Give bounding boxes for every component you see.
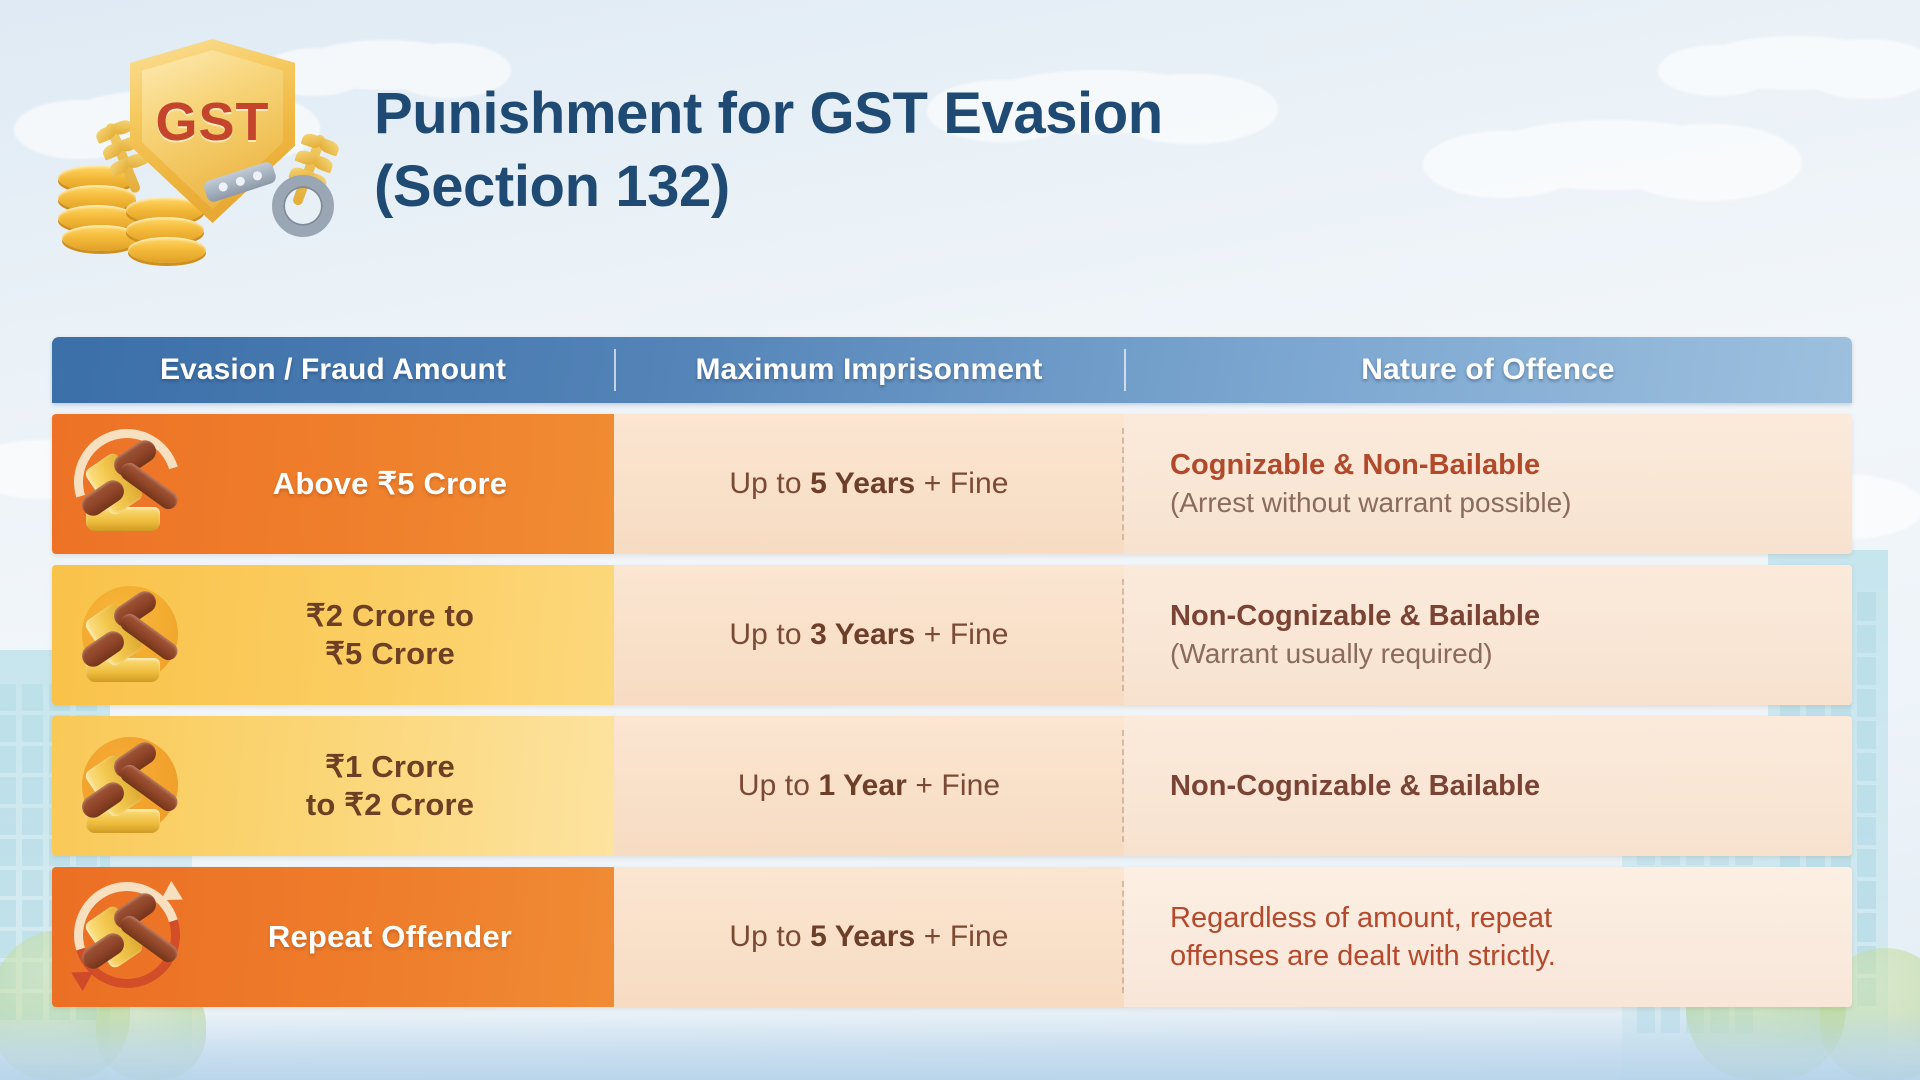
imprisonment-cell: Up to 3 Years + Fine <box>614 565 1124 705</box>
title-line-1: Punishment for GST Evasion <box>374 81 1163 146</box>
table-header-row: Evasion / Fraud Amount Maximum Imprisonm… <box>52 337 1852 403</box>
ground-band <box>0 1010 1920 1080</box>
table-row[interactable]: Repeat Offender Up to 5 Years + Fine Reg… <box>52 867 1852 1007</box>
nature-main: Non-Cognizable & Bailable <box>1170 598 1822 635</box>
table-row[interactable]: Above ₹5 Crore Up to 5 Years + Fine Cogn… <box>52 414 1852 554</box>
imprisonment-prefix: Up to <box>738 769 819 802</box>
nature-sub: (Warrant usually required) <box>1170 636 1822 672</box>
amount-label: ₹1 Crore to ₹2 Crore <box>192 748 588 824</box>
nature-plain-line-1: Regardless of amount, repeat <box>1170 902 1552 934</box>
hero-header: GST Punishment for GST Evasion (Section … <box>0 0 1920 300</box>
nature-cell: Regardless of amount, repeat offenses ar… <box>1124 867 1852 1007</box>
imprisonment-text: Up to 5 Years + Fine <box>729 920 1008 954</box>
imprisonment-duration: 5 Years <box>810 467 915 500</box>
handcuff-bar <box>202 160 277 203</box>
title-line-2: (Section 132) <box>374 150 1163 223</box>
gavel-repeat-icon <box>66 878 192 996</box>
handcuff-ring <box>272 175 334 237</box>
imprisonment-text: Up to 1 Year + Fine <box>738 769 1000 803</box>
imprisonment-prefix: Up to <box>729 920 810 953</box>
nature-cell: Cognizable & Non-Bailable (Arrest withou… <box>1124 414 1852 554</box>
amount-line-2: to ₹2 Crore <box>306 787 474 822</box>
amount-line-1: ₹1 Crore <box>325 749 455 784</box>
imprisonment-cell: Up to 1 Year + Fine <box>614 716 1124 856</box>
gavel-disc-icon <box>66 727 192 845</box>
amount-cell: Repeat Offender <box>52 867 614 1007</box>
page-title: Punishment for GST Evasion (Section 132) <box>374 77 1163 223</box>
amount-label: ₹2 Crore to ₹5 Crore <box>192 597 588 673</box>
imprisonment-cell: Up to 5 Years + Fine <box>614 414 1124 554</box>
imprisonment-cell: Up to 5 Years + Fine <box>614 867 1124 1007</box>
gavel-arc-icon <box>66 425 192 543</box>
nature-plain: Regardless of amount, repeat offenses ar… <box>1170 899 1822 976</box>
imprisonment-text: Up to 3 Years + Fine <box>729 618 1008 652</box>
nature-plain-line-2: offenses are dealt with strictly. <box>1170 940 1556 972</box>
table-row[interactable]: ₹2 Crore to ₹5 Crore Up to 3 Years + Fin… <box>52 565 1852 705</box>
gst-shield-icon: GST <box>22 25 352 275</box>
imprisonment-suffix: + Fine <box>915 920 1008 953</box>
imprisonment-suffix: + Fine <box>915 618 1008 651</box>
imprisonment-text: Up to 5 Years + Fine <box>729 467 1008 501</box>
gavel-disc-icon <box>66 576 192 694</box>
nature-main: Cognizable & Non-Bailable <box>1170 447 1822 484</box>
nature-cell: Non-Cognizable & Bailable <box>1124 716 1852 856</box>
nature-cell: Non-Cognizable & Bailable (Warrant usual… <box>1124 565 1852 705</box>
column-header-nature: Nature of Offence <box>1124 337 1852 403</box>
nature-main: Non-Cognizable & Bailable <box>1170 768 1822 805</box>
imprisonment-suffix: + Fine <box>907 769 1000 802</box>
imprisonment-duration: 5 Years <box>810 920 915 953</box>
table-row[interactable]: ₹1 Crore to ₹2 Crore Up to 1 Year + Fine… <box>52 716 1852 856</box>
amount-line-1: ₹2 Crore to <box>306 598 474 633</box>
amount-label: Repeat Offender <box>192 918 588 956</box>
amount-cell: Above ₹5 Crore <box>52 414 614 554</box>
amount-label: Above ₹5 Crore <box>192 465 588 503</box>
column-header-amount: Evasion / Fraud Amount <box>52 337 614 403</box>
imprisonment-suffix: + Fine <box>915 467 1008 500</box>
amount-cell: ₹2 Crore to ₹5 Crore <box>52 565 614 705</box>
nature-sub: (Arrest without warrant possible) <box>1170 485 1822 521</box>
amount-cell: ₹1 Crore to ₹2 Crore <box>52 716 614 856</box>
handcuffs-icon <box>204 155 334 247</box>
amount-line-2: ₹5 Crore <box>325 636 455 671</box>
column-header-imprisonment: Maximum Imprisonment <box>614 337 1124 403</box>
imprisonment-prefix: Up to <box>729 467 810 500</box>
imprisonment-duration: 3 Years <box>810 618 915 651</box>
gst-logo-text: GST <box>130 91 295 153</box>
imprisonment-prefix: Up to <box>729 618 810 651</box>
imprisonment-duration: 1 Year <box>818 769 906 802</box>
punishment-table: Evasion / Fraud Amount Maximum Imprisonm… <box>52 337 1852 1007</box>
